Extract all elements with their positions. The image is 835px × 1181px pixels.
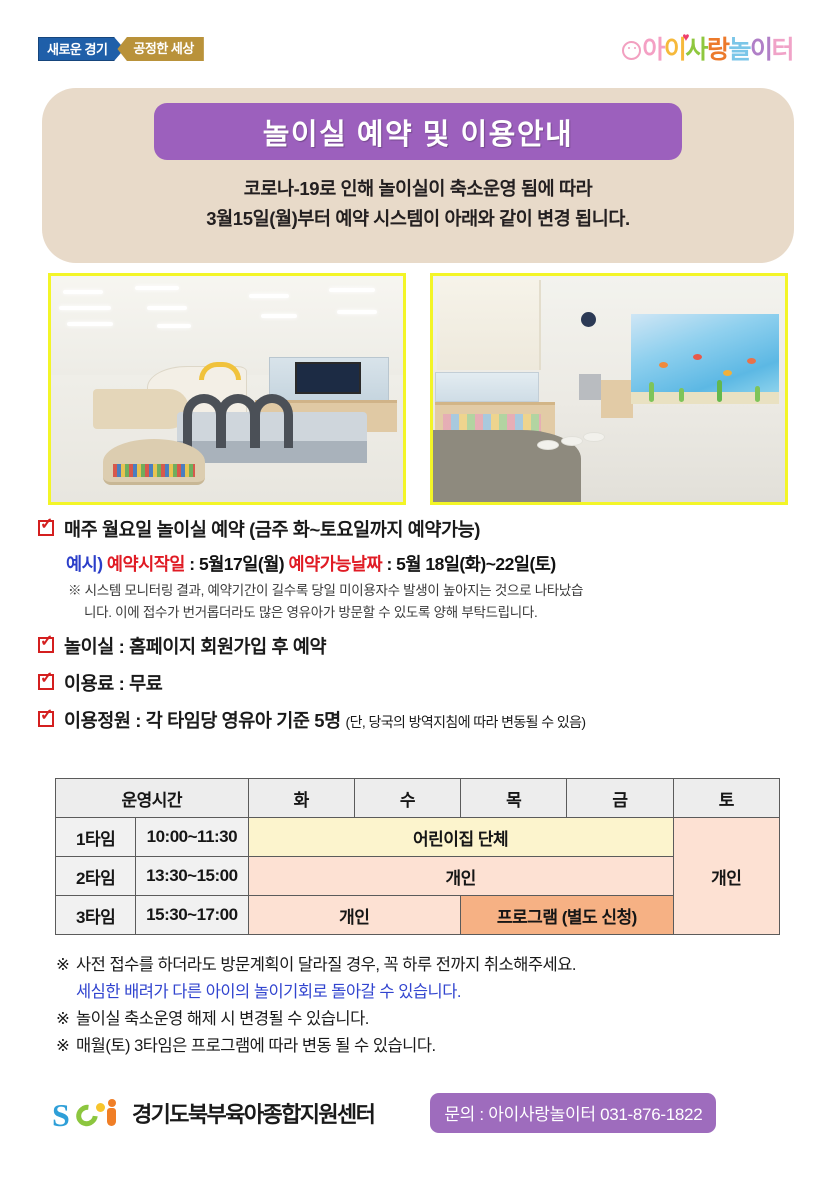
- photo-platform: [93, 389, 189, 429]
- note-reduced-operation: ※ 놀이실 축소운영 해제 시 변경될 수 있습니다.: [56, 1006, 816, 1033]
- cell-saturday-individual: 개인: [673, 818, 779, 935]
- header-operating-hours: 운영시간: [56, 779, 249, 818]
- row-hours-time2: 13:30~15:00: [136, 857, 248, 896]
- capacity-suffix: (단, 당국의 방역지침에 따라 변동될 수 있음): [346, 714, 586, 730]
- photo-tv-screen: [295, 362, 361, 394]
- example-label: 예시): [66, 554, 103, 574]
- photo-book-table: [103, 439, 205, 485]
- checkbox-icon: [38, 711, 54, 727]
- row-label-time3: 3타임: [56, 896, 136, 935]
- schedule-table: 운영시간 화 수 목 금 토 1타임 10:00~11:30 어린이집 단체 개…: [55, 778, 780, 935]
- cell-individual-time2: 개인: [248, 857, 673, 896]
- monitoring-note-line-2: 니다. 이에 접수가 번거롭더라도 많은 영유아가 방문할 수 있도록 양해 부…: [68, 602, 818, 624]
- slogan-tag-blue: 새로운 경기: [38, 37, 124, 61]
- table-header-row: 운영시간 화 수 목 금 토: [56, 779, 780, 818]
- table-row: 2타임 13:30~15:00 개인: [56, 857, 780, 896]
- photo-window-blind: [437, 280, 541, 370]
- note-marker: ※: [56, 1006, 76, 1033]
- header-day-sat: 토: [673, 779, 779, 818]
- photo-small-cabinet: [601, 380, 633, 418]
- logo-orange-figure: [107, 1108, 116, 1126]
- bullet-text: 놀이실 : 홈페이지 회원가입 후 예약: [64, 633, 326, 661]
- wall-clock-icon: [581, 312, 596, 327]
- photo-floor-mat: [433, 430, 581, 502]
- contact-badge[interactable]: 문의 : 아이사랑놀이터 031-876-1822: [430, 1093, 716, 1133]
- subtitle-line-2: 3월15일(월)부터 예약 시스템이 아래와 같이 변경 됩니다.: [42, 204, 794, 234]
- example-start-value: : 5월17일(월): [189, 554, 288, 574]
- info-bullet-list: 매주 월요일 놀이실 예약 (금주 화~토요일까지 예약가능) 예시) 예약시작…: [38, 516, 828, 736]
- monitoring-note: ※ 시스템 모니터링 결과, 예약기간이 길수록 당일 미이용자수 발생이 높아…: [68, 580, 818, 624]
- page-title: 놀이실 예약 및 이용안내: [263, 111, 573, 153]
- checkbox-icon: [38, 637, 54, 653]
- photo-projection-room: [430, 273, 788, 505]
- brand-logo-isarang: ♥ 아 이 사 랑 놀 이 터: [622, 30, 793, 66]
- note-marker: ※: [56, 952, 76, 979]
- example-start-key: 예약시작일: [107, 554, 185, 574]
- bullet-item-capacity: 이용정원 : 각 타임당 영유아 기준 5명 (단, 당국의 방역지침에 따라 …: [38, 707, 828, 736]
- monitoring-note-line-1: ※ 시스템 모니터링 결과, 예약기간이 길수록 당일 미이용자수 발생이 높아…: [68, 583, 583, 598]
- cell-individual-time3: 개인: [248, 896, 461, 935]
- photo-row: [48, 273, 788, 505]
- gyeonggi-slogan-tags: 새로운 경기 공정한 세상: [38, 36, 204, 62]
- logo-yellow-dot: [96, 1103, 105, 1112]
- photo-aquarium-projection: [631, 314, 779, 404]
- photo-wall-panel: [579, 374, 601, 400]
- photo-arch-3: [251, 394, 293, 448]
- brand-char-2: 사: [685, 30, 707, 66]
- bullet-text: 이용료 : 무료: [64, 670, 162, 698]
- header-day-tue: 화: [248, 779, 354, 818]
- bottom-notes: ※ 사전 접수를 하더라도 방문계획이 달라질 경우, 꼭 하루 전까지 취소해…: [56, 952, 816, 1060]
- capacity-main: 이용정원 : 각 타임당 영유아 기준 5명: [64, 710, 341, 731]
- smiley-face-icon: [622, 41, 641, 60]
- bullet-item-signup: 놀이실 : 홈페이지 회원가입 후 예약: [38, 633, 828, 661]
- table-row: 3타임 15:30~17:00 개인 프로그램 (별도 신청): [56, 896, 780, 935]
- row-hours-time3: 15:30~17:00: [136, 896, 248, 935]
- table-row: 1타임 10:00~11:30 어린이집 단체 개인: [56, 818, 780, 857]
- slogan-tag-gold: 공정한 세상: [117, 37, 203, 61]
- brand-char-6: 터: [771, 30, 793, 66]
- photo-books: [113, 464, 195, 477]
- bullet-item-fee: 이용료 : 무료: [38, 670, 828, 698]
- bullet-text: 매주 월요일 놀이실 예약 (금주 화~토요일까지 예약가능): [64, 516, 480, 544]
- center-logo-icon: S: [52, 1096, 130, 1130]
- brand-char-0: 아: [642, 30, 664, 66]
- center-name: 경기도북부육아종합지원센터: [132, 1097, 374, 1129]
- subtitle-line-1: 코로나-19로 인해 놀이실이 축소운영 됨에 따라: [42, 174, 794, 204]
- header-day-thu: 목: [461, 779, 567, 818]
- note-monthly-program: ※ 매월(토) 3타임은 프로그램에 따라 변동 될 수 있습니다.: [56, 1033, 816, 1060]
- photo-playroom: [48, 273, 406, 505]
- header-day-fri: 금: [567, 779, 673, 818]
- note-consideration-highlight: 세심한 배려가 다른 아이의 놀이기회로 돌아갈 수 있습니다.: [76, 979, 816, 1006]
- brand-char-3: 랑: [707, 30, 729, 66]
- header-panel: 놀이실 예약 및 이용안내 코로나-19로 인해 놀이실이 축소운영 됨에 따라…: [42, 88, 794, 263]
- example-range-key: 예약가능날짜: [289, 554, 383, 574]
- note-cancel-policy: ※ 사전 접수를 하더라도 방문계획이 달라질 경우, 꼭 하루 전까지 취소해…: [56, 952, 816, 979]
- photo-side-window: [435, 372, 539, 402]
- header-day-wed: 수: [354, 779, 460, 818]
- checkbox-icon: [38, 520, 54, 536]
- bullet-item-reservation: 매주 월요일 놀이실 예약 (금주 화~토요일까지 예약가능): [38, 516, 828, 544]
- checkbox-icon: [38, 674, 54, 690]
- row-label-time2: 2타임: [56, 857, 136, 896]
- cell-daycare-group: 어린이집 단체: [248, 818, 673, 857]
- logo-orange-dot: [108, 1099, 116, 1107]
- footer: S 경기도북부육아종합지원센터 문의 : 아이사랑놀이터 031-876-182…: [52, 1092, 792, 1134]
- note-text: 매월(토) 3타임은 프로그램에 따라 변동 될 수 있습니다.: [76, 1033, 436, 1060]
- logo-s-shape: S: [52, 1100, 70, 1130]
- header-subtitle: 코로나-19로 인해 놀이실이 축소운영 됨에 따라 3월15일(월)부터 예약…: [42, 174, 794, 234]
- page-title-banner: 놀이실 예약 및 이용안내: [154, 103, 682, 160]
- note-text: 놀이실 축소운영 해제 시 변경될 수 있습니다.: [76, 1006, 369, 1033]
- row-hours-time1: 10:00~11:30: [136, 818, 248, 857]
- reservation-example: 예시) 예약시작일 : 5월17일(월) 예약가능날짜 : 5월 18일(화)~…: [66, 551, 828, 576]
- brand-char-5: 이: [750, 30, 772, 66]
- note-marker: ※: [56, 1033, 76, 1060]
- row-label-time1: 1타임: [56, 818, 136, 857]
- example-range-value: : 5월 18일(화)~22일(토): [386, 554, 555, 574]
- cell-program-time3: 프로그램 (별도 신청): [461, 896, 674, 935]
- brand-char-4: 놀: [728, 30, 750, 66]
- note-text: 사전 접수를 하더라도 방문계획이 달라질 경우, 꼭 하루 전까지 취소해주세…: [76, 952, 576, 979]
- heart-icon: ♥: [682, 30, 688, 44]
- bullet-text: 이용정원 : 각 타임당 영유아 기준 5명 (단, 당국의 방역지침에 따라 …: [64, 707, 585, 736]
